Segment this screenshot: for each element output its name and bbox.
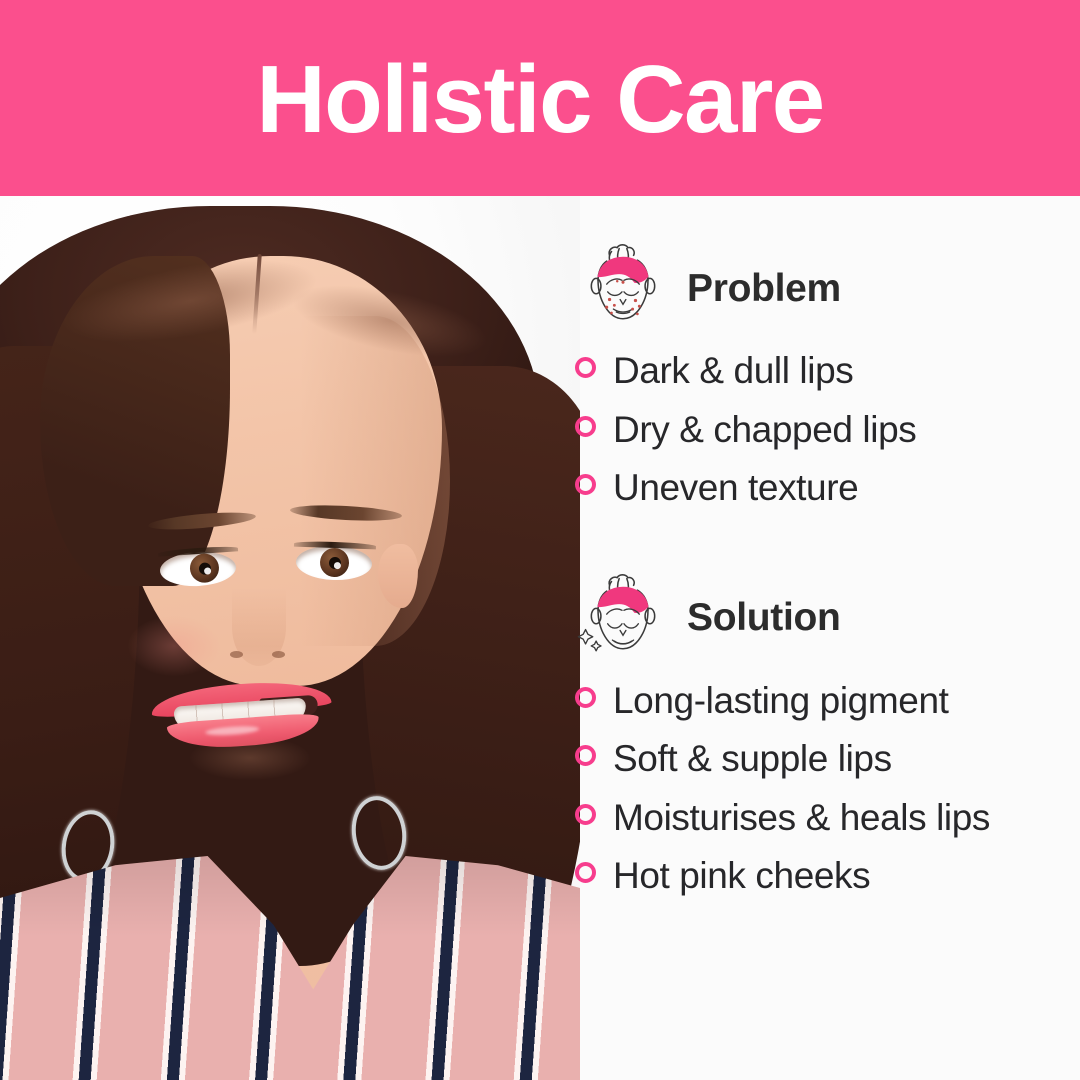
bullet-dot-icon bbox=[575, 687, 596, 708]
problem-item-text: Dark & dull lips bbox=[613, 345, 853, 398]
solution-item-text: Long-lasting pigment bbox=[613, 675, 949, 728]
list-item: Uneven texture bbox=[575, 459, 1075, 518]
face-with-sparkles-icon bbox=[575, 570, 671, 666]
problem-list: Dark & dull lips Dry & chapped lips Unev… bbox=[575, 342, 1075, 518]
bullet-dot-icon bbox=[575, 862, 596, 883]
list-item: Soft & supple lips bbox=[575, 730, 1075, 789]
page-title: Holistic Care bbox=[256, 52, 823, 148]
solution-item-text: Soft & supple lips bbox=[613, 733, 892, 786]
problem-item-text: Dry & chapped lips bbox=[613, 404, 916, 457]
iris-right bbox=[320, 548, 350, 578]
benefits-panel: Problem Dark & dull lips Dry & chapped l… bbox=[575, 240, 1075, 906]
solution-section: Solution Long-lasting pigment Soft & sup… bbox=[575, 570, 1075, 906]
list-item: Long-lasting pigment bbox=[575, 672, 1075, 731]
face-shading bbox=[300, 316, 450, 646]
nostril-right bbox=[272, 651, 285, 658]
pupil-right bbox=[329, 557, 341, 569]
iris-left bbox=[189, 553, 219, 583]
solution-label: Solution bbox=[687, 598, 841, 637]
problem-item-text: Uneven texture bbox=[613, 462, 858, 515]
nostril-left bbox=[230, 651, 243, 658]
solution-item-text: Moisturises & heals lips bbox=[613, 792, 990, 845]
list-item: Hot pink cheeks bbox=[575, 847, 1075, 906]
face-with-acne-icon bbox=[575, 240, 671, 336]
solution-item-text: Hot pink cheeks bbox=[613, 850, 870, 903]
solution-heading-row: Solution bbox=[575, 570, 1075, 666]
list-item: Dry & chapped lips bbox=[575, 401, 1075, 460]
bullet-dot-icon bbox=[575, 416, 596, 437]
problem-section: Problem Dark & dull lips Dry & chapped l… bbox=[575, 240, 1075, 518]
problem-heading-row: Problem bbox=[575, 240, 1075, 336]
bullet-dot-icon bbox=[575, 474, 596, 495]
chin-shadow bbox=[190, 736, 310, 780]
problem-label: Problem bbox=[687, 269, 841, 308]
pupil-left bbox=[199, 562, 212, 575]
cheek-blush bbox=[128, 616, 220, 676]
header-banner: Holistic Care bbox=[0, 0, 1080, 196]
list-item: Dark & dull lips bbox=[575, 342, 1075, 401]
bullet-dot-icon bbox=[575, 804, 596, 825]
eye-glint-left bbox=[204, 567, 211, 574]
bullet-dot-icon bbox=[575, 745, 596, 766]
model-photo bbox=[0, 196, 580, 1080]
eye-glint-right bbox=[334, 562, 341, 569]
list-item: Moisturises & heals lips bbox=[575, 789, 1075, 848]
infographic-canvas: Holistic Care bbox=[0, 0, 1080, 1080]
solution-list: Long-lasting pigment Soft & supple lips … bbox=[575, 672, 1075, 906]
bullet-dot-icon bbox=[575, 357, 596, 378]
